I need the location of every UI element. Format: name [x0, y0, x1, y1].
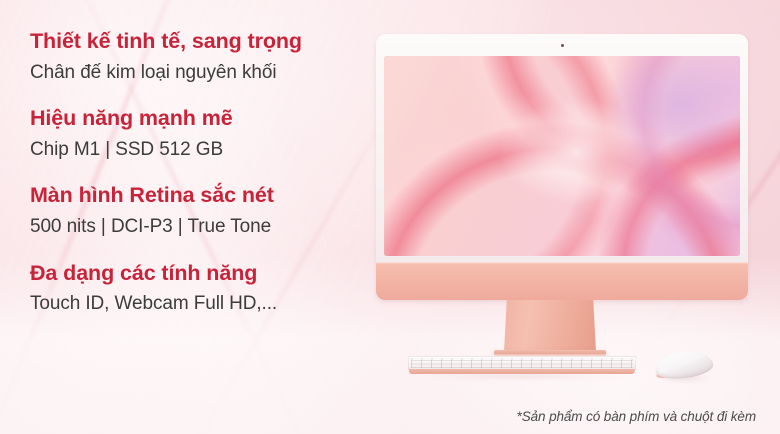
imac-product-image: [376, 34, 748, 334]
desktop-wallpaper: [384, 56, 740, 256]
imac-stand-neck: [504, 300, 596, 352]
feature-item-features: Đa dạng các tính năng Touch ID, Webcam F…: [30, 260, 375, 317]
imac-body: [376, 34, 748, 300]
keyboard-surface: [408, 356, 636, 370]
feature-title: Màn hình Retina sắc nét: [30, 182, 375, 210]
feature-subtitle: Chip M1 | SSD 512 GB: [30, 138, 375, 163]
imac-display: [384, 56, 740, 256]
magic-mouse: [655, 352, 713, 378]
webcam-icon: [561, 44, 564, 47]
feature-list: Thiết kế tinh tế, sang trọng Chân đế kim…: [30, 28, 375, 317]
feature-subtitle: 500 nits | DCI-P3 | True Tone: [30, 215, 375, 240]
magic-keyboard: [408, 356, 637, 378]
feature-item-display: Màn hình Retina sắc nét 500 nits | DCI-P…: [30, 182, 375, 239]
feature-title: Thiết kế tinh tế, sang trọng: [30, 28, 375, 56]
imac-chin-edge: [376, 262, 748, 264]
feature-subtitle: Touch ID, Webcam Full HD,...: [30, 292, 375, 317]
keyboard-keys: [411, 358, 633, 368]
product-feature-banner: Thiết kế tinh tế, sang trọng Chân đế kim…: [0, 0, 780, 434]
footnote-text: *Sản phẩm có bàn phím và chuột đi kèm: [517, 409, 756, 424]
feature-item-performance: Hiệu năng mạnh mẽ Chip M1 | SSD 512 GB: [30, 105, 375, 162]
wallpaper-lavender-tint: [605, 56, 740, 164]
feature-title: Đa dạng các tính năng: [30, 260, 375, 288]
keyboard-shadow: [412, 374, 632, 379]
feature-subtitle: Chân đế kim loại nguyên khối: [30, 61, 375, 86]
feature-title: Hiệu năng mạnh mẽ: [30, 105, 375, 133]
feature-item-design: Thiết kế tinh tế, sang trọng Chân đế kim…: [30, 28, 375, 85]
imac-chin: [376, 262, 748, 300]
